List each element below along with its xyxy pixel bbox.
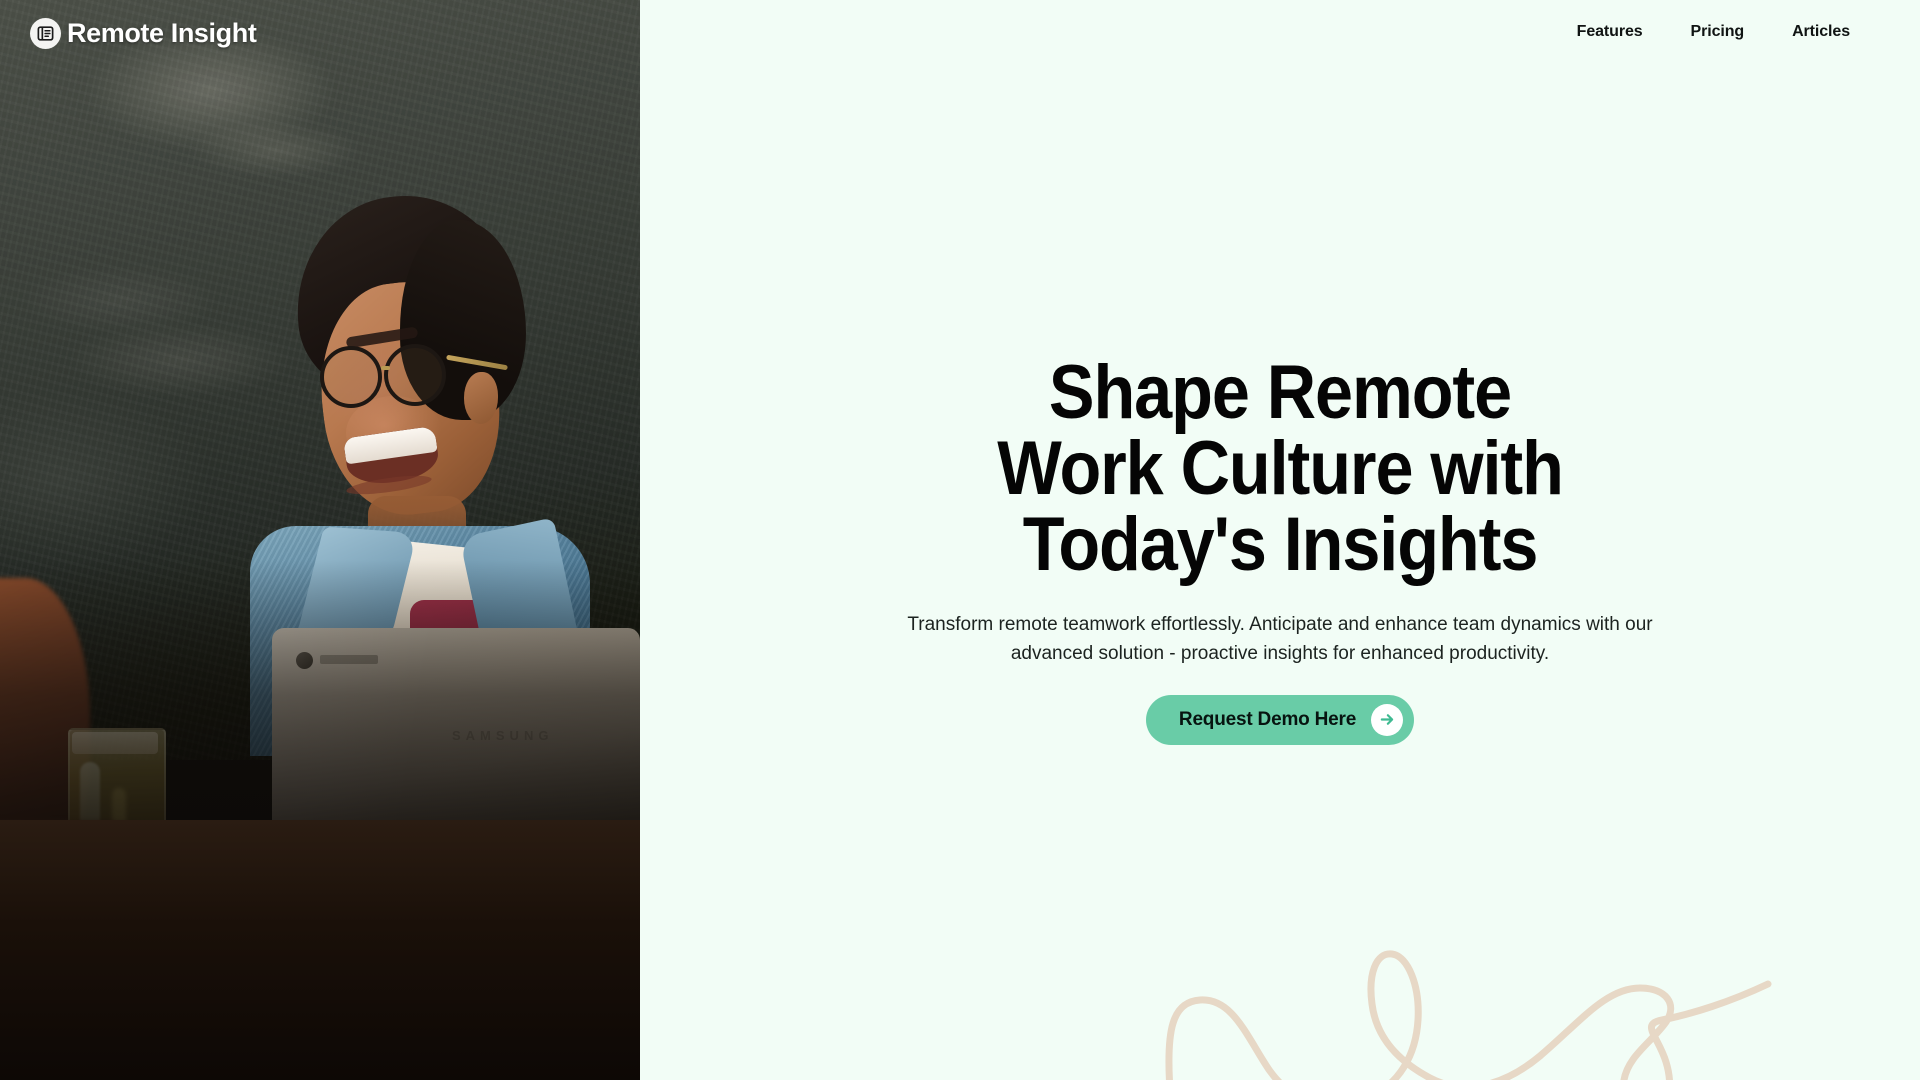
hero-section: Shape Remote Work Culture with Today's I…: [640, 0, 1920, 1080]
request-demo-label: Request Demo Here: [1179, 709, 1356, 731]
photo-table: [0, 820, 640, 1080]
hero-photo-panel: SAMSUNG: [0, 0, 640, 1080]
main-navigation: Features Pricing Articles: [1553, 0, 1920, 64]
arrow-right-circle-icon: [1371, 704, 1403, 736]
page-title: Shape Remote Work Culture with Today's I…: [965, 355, 1595, 583]
glasses-bridge: [381, 366, 390, 370]
nav-link-features[interactable]: Features: [1553, 15, 1667, 49]
landing-page: SAMSUNG Remote Insight: [0, 0, 1920, 1080]
article-document-icon: [30, 18, 61, 49]
hero-subtitle: Transform remote teamwork effortlessly. …: [880, 610, 1680, 669]
nav-link-pricing[interactable]: Pricing: [1667, 15, 1769, 49]
glasses-lens-right: [384, 344, 446, 406]
cta-container: Request Demo Here: [930, 695, 1630, 745]
brand-name: Remote Insight: [67, 20, 256, 47]
brand-logo[interactable]: Remote Insight: [30, 18, 256, 49]
nav-link-articles[interactable]: Articles: [1768, 15, 1874, 49]
hero-content: Shape Remote Work Culture with Today's I…: [930, 355, 1630, 745]
hero-photo-image: SAMSUNG: [0, 0, 640, 1080]
glasses-lens-left: [320, 346, 382, 408]
person-glasses: [318, 344, 508, 410]
glasses-temple: [446, 355, 508, 371]
request-demo-button[interactable]: Request Demo Here: [1146, 695, 1414, 745]
